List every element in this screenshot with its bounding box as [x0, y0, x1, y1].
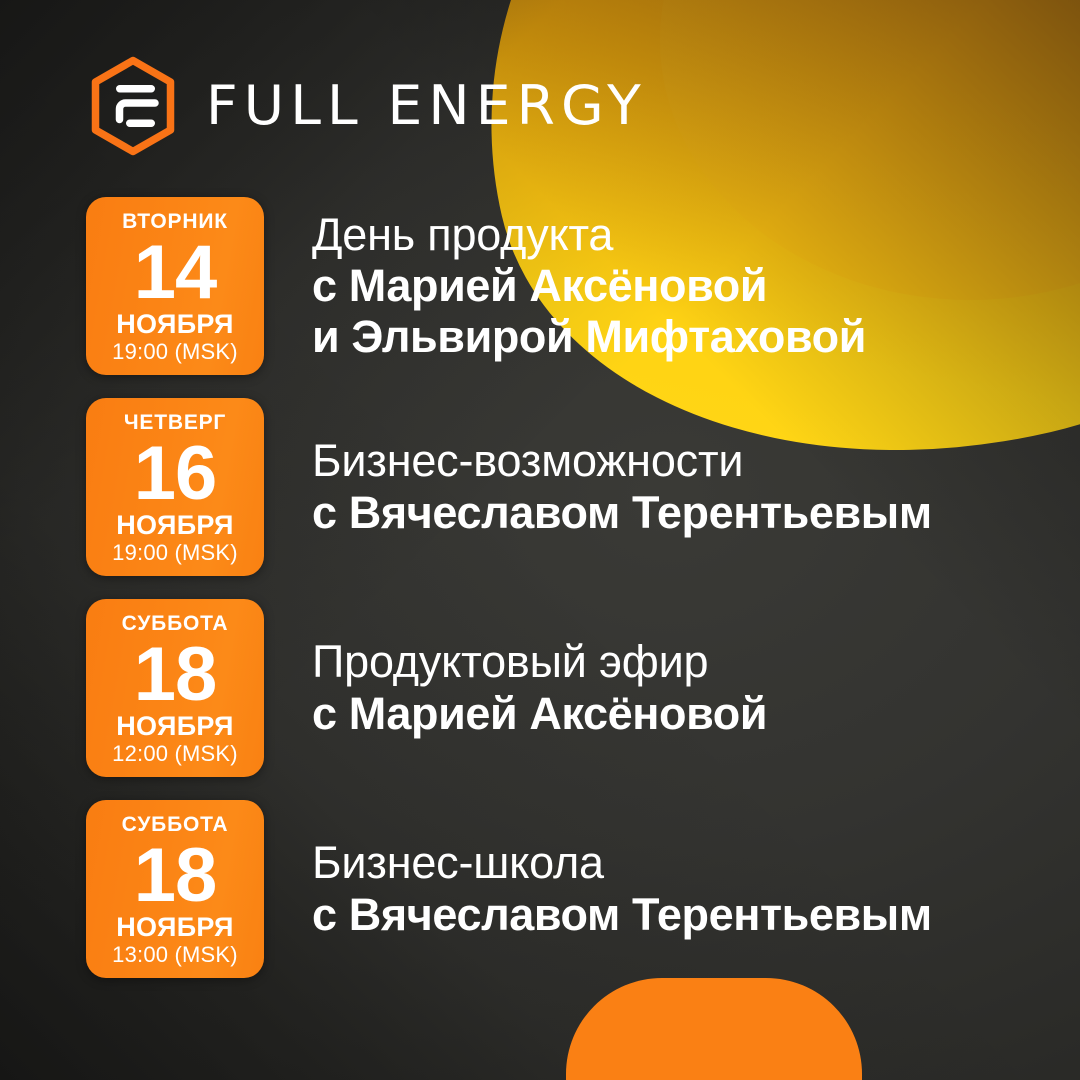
date-day-number: 14 — [134, 236, 217, 310]
brand-header: FULL ENERGY — [86, 56, 638, 156]
event-text-block: Бизнес-школа с Вячеславом Терентьевым — [312, 838, 932, 940]
event-text-block: День продукта с Марией Аксёновой и Эльви… — [312, 210, 866, 362]
schedule-event-row[interactable]: ЧЕТВЕРГ 16 НОЯБРЯ 19:00 (MSK) Бизнес-воз… — [0, 397, 1080, 577]
date-time: 19:00 (MSK) — [112, 542, 238, 564]
date-time: 12:00 (MSK) — [112, 743, 238, 765]
date-weekday: ЧЕТВЕРГ — [124, 412, 226, 433]
date-month: НОЯБРЯ — [116, 512, 234, 539]
brand-wordmark: FULL ENERGY — [206, 79, 647, 133]
date-month: НОЯБРЯ — [116, 914, 234, 941]
date-weekday: СУББОТА — [122, 613, 229, 634]
date-month: НОЯБРЯ — [116, 713, 234, 740]
schedule-event-row[interactable]: СУББОТА 18 НОЯБРЯ 13:00 (MSK) Бизнес-шко… — [0, 799, 1080, 979]
date-weekday: ВТОРНИК — [122, 211, 228, 232]
event-host-line-1: с Вячеславом Терентьевым — [312, 890, 932, 940]
event-host-line-1: с Вячеславом Терентьевым — [312, 488, 932, 538]
event-title: День продукта — [312, 210, 866, 260]
date-day-number: 18 — [134, 839, 217, 913]
date-day-number: 18 — [134, 638, 217, 712]
date-card: ЧЕТВЕРГ 16 НОЯБРЯ 19:00 (MSK) — [86, 398, 264, 576]
schedule-event-row[interactable]: СУББОТА 18 НОЯБРЯ 12:00 (MSK) Продуктовы… — [0, 598, 1080, 778]
hexagon-e-logo-icon — [86, 56, 180, 156]
date-time: 13:00 (MSK) — [112, 944, 238, 966]
date-time: 19:00 (MSK) — [112, 341, 238, 363]
event-title: Продуктовый эфир — [312, 637, 767, 687]
event-host-line-1: с Марией Аксёновой — [312, 689, 767, 739]
date-month: НОЯБРЯ — [116, 311, 234, 338]
poster-root: FULL ENERGY ВТОРНИК 14 НОЯБРЯ 19:00 (MSK… — [0, 0, 1080, 1080]
event-title: Бизнес-возможности — [312, 436, 932, 486]
schedule-event-row[interactable]: ВТОРНИК 14 НОЯБРЯ 19:00 (MSK) День проду… — [0, 196, 1080, 376]
event-title: Бизнес-школа — [312, 838, 932, 888]
date-card: СУББОТА 18 НОЯБРЯ 12:00 (MSK) — [86, 599, 264, 777]
event-text-block: Бизнес-возможности с Вячеславом Терентье… — [312, 436, 932, 538]
date-weekday: СУББОТА — [122, 814, 229, 835]
date-day-number: 16 — [134, 437, 217, 511]
date-card: СУББОТА 18 НОЯБРЯ 13:00 (MSK) — [86, 800, 264, 978]
date-card: ВТОРНИК 14 НОЯБРЯ 19:00 (MSK) — [86, 197, 264, 375]
event-host-line-1: с Марией Аксёновой — [312, 261, 866, 311]
event-host-line-2: и Эльвирой Мифтаховой — [312, 312, 866, 362]
schedule-list: ВТОРНИК 14 НОЯБРЯ 19:00 (MSK) День проду… — [0, 196, 1080, 1000]
event-text-block: Продуктовый эфир с Марией Аксёновой — [312, 637, 767, 739]
